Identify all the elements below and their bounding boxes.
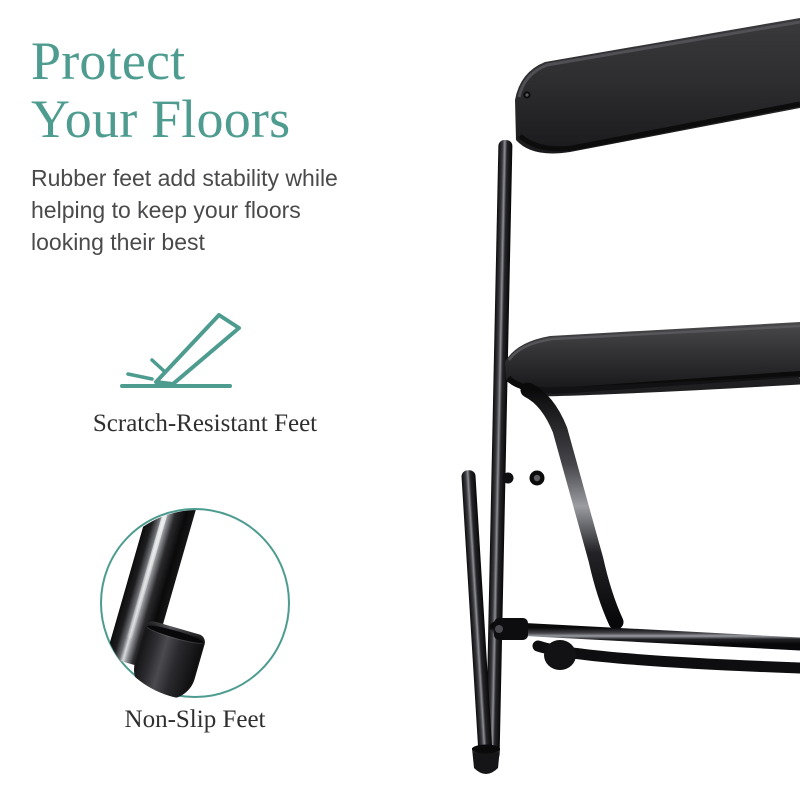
circle-photo-clip <box>102 510 292 700</box>
page-title: Protect Your Floors <box>31 32 431 148</box>
headline-line-2: Your Floors <box>31 90 431 148</box>
black-folding-chair-photo <box>420 0 800 800</box>
subcopy-line-2: helping to keep your floors <box>31 194 423 226</box>
subcopy-line-1: Rubber feet add stability while <box>31 162 423 194</box>
seat-support-strut <box>528 390 616 622</box>
non-slip-rubber-foot-photo <box>100 508 290 698</box>
product-feature-infographic: Protect Your Floors Rubber feet add stab… <box>0 0 800 800</box>
feature-caption-non-slip: Non-Slip Feet <box>50 706 340 734</box>
feature-caption-scratch-resistant: Scratch-Resistant Feet <box>60 410 350 438</box>
feature-scratch-resistant: Scratch-Resistant Feet <box>60 305 350 455</box>
feature-non-slip: Non-Slip Feet <box>50 508 340 748</box>
subcopy-line-3: looking their best <box>31 226 423 258</box>
subheading-text: Rubber feet add stability while helping … <box>31 162 423 258</box>
headline-line-1: Protect <box>31 32 431 90</box>
scratch-resistant-leg-on-floor-icon <box>120 305 320 395</box>
front-leg-tube <box>461 470 493 760</box>
rear-leg-tube <box>486 140 513 760</box>
